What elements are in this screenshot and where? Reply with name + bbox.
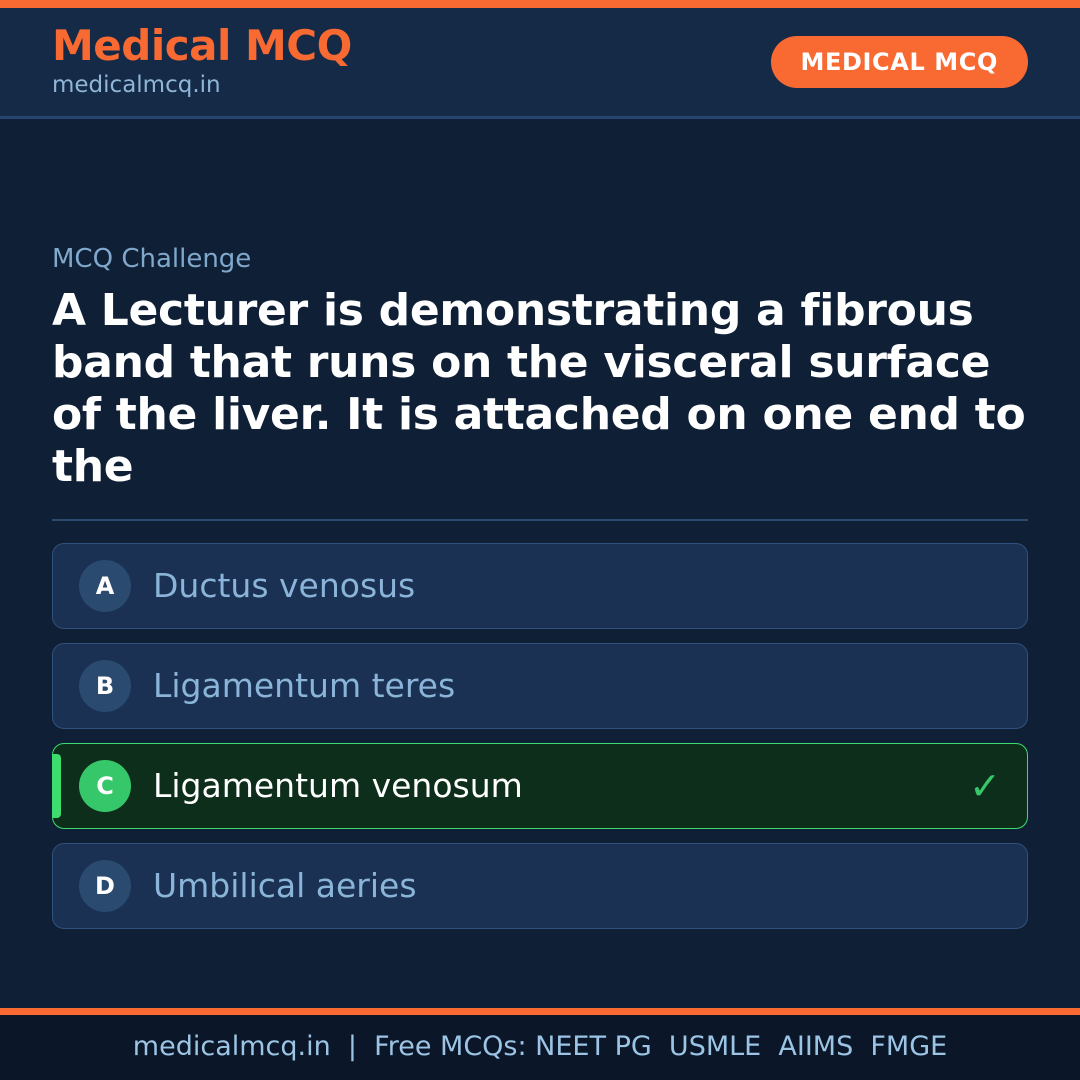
question-divider <box>52 519 1028 521</box>
options-list: A Ductus venosus B Ligamentum teres C Li… <box>52 543 1028 929</box>
option-b-label: Ligamentum teres <box>153 666 957 706</box>
option-a[interactable]: A Ductus venosus <box>52 543 1028 629</box>
option-b-letter: B <box>79 660 131 712</box>
main-content: MCQ Challenge A Lecturer is demonstratin… <box>0 119 1080 1008</box>
option-c-letter: C <box>79 760 131 812</box>
top-accent-bar <box>0 0 1080 8</box>
question-text: A Lecturer is demonstrating a fibrous ba… <box>52 285 1028 493</box>
option-d[interactable]: D Umbilical aeries <box>52 843 1028 929</box>
option-b[interactable]: B Ligamentum teres <box>52 643 1028 729</box>
kicker-label: MCQ Challenge <box>52 244 1028 275</box>
correct-accent-bar <box>53 754 61 818</box>
option-c-check-icon: ✓ <box>957 764 1001 808</box>
brand-title: Medical MCQ <box>52 24 352 68</box>
mcq-card: Medical MCQ medicalmcq.in MEDICAL MCQ MC… <box>0 0 1080 1080</box>
footer-accent-bar <box>0 1008 1080 1015</box>
footer-text: medicalmcq.in | Free MCQs: NEET PG USMLE… <box>133 1031 947 1063</box>
header: Medical MCQ medicalmcq.in MEDICAL MCQ <box>0 8 1080 119</box>
option-d-label: Umbilical aeries <box>153 866 957 906</box>
option-a-letter: A <box>79 560 131 612</box>
brand-subtitle: medicalmcq.in <box>52 71 352 101</box>
header-badge: MEDICAL MCQ <box>771 36 1028 88</box>
footer: medicalmcq.in | Free MCQs: NEET PG USMLE… <box>0 1015 1080 1080</box>
option-c-label: Ligamentum venosum <box>153 766 957 806</box>
option-d-letter: D <box>79 860 131 912</box>
option-c[interactable]: C Ligamentum venosum ✓ <box>52 743 1028 829</box>
option-a-label: Ductus venosus <box>153 566 957 606</box>
brand: Medical MCQ medicalmcq.in <box>52 24 352 101</box>
